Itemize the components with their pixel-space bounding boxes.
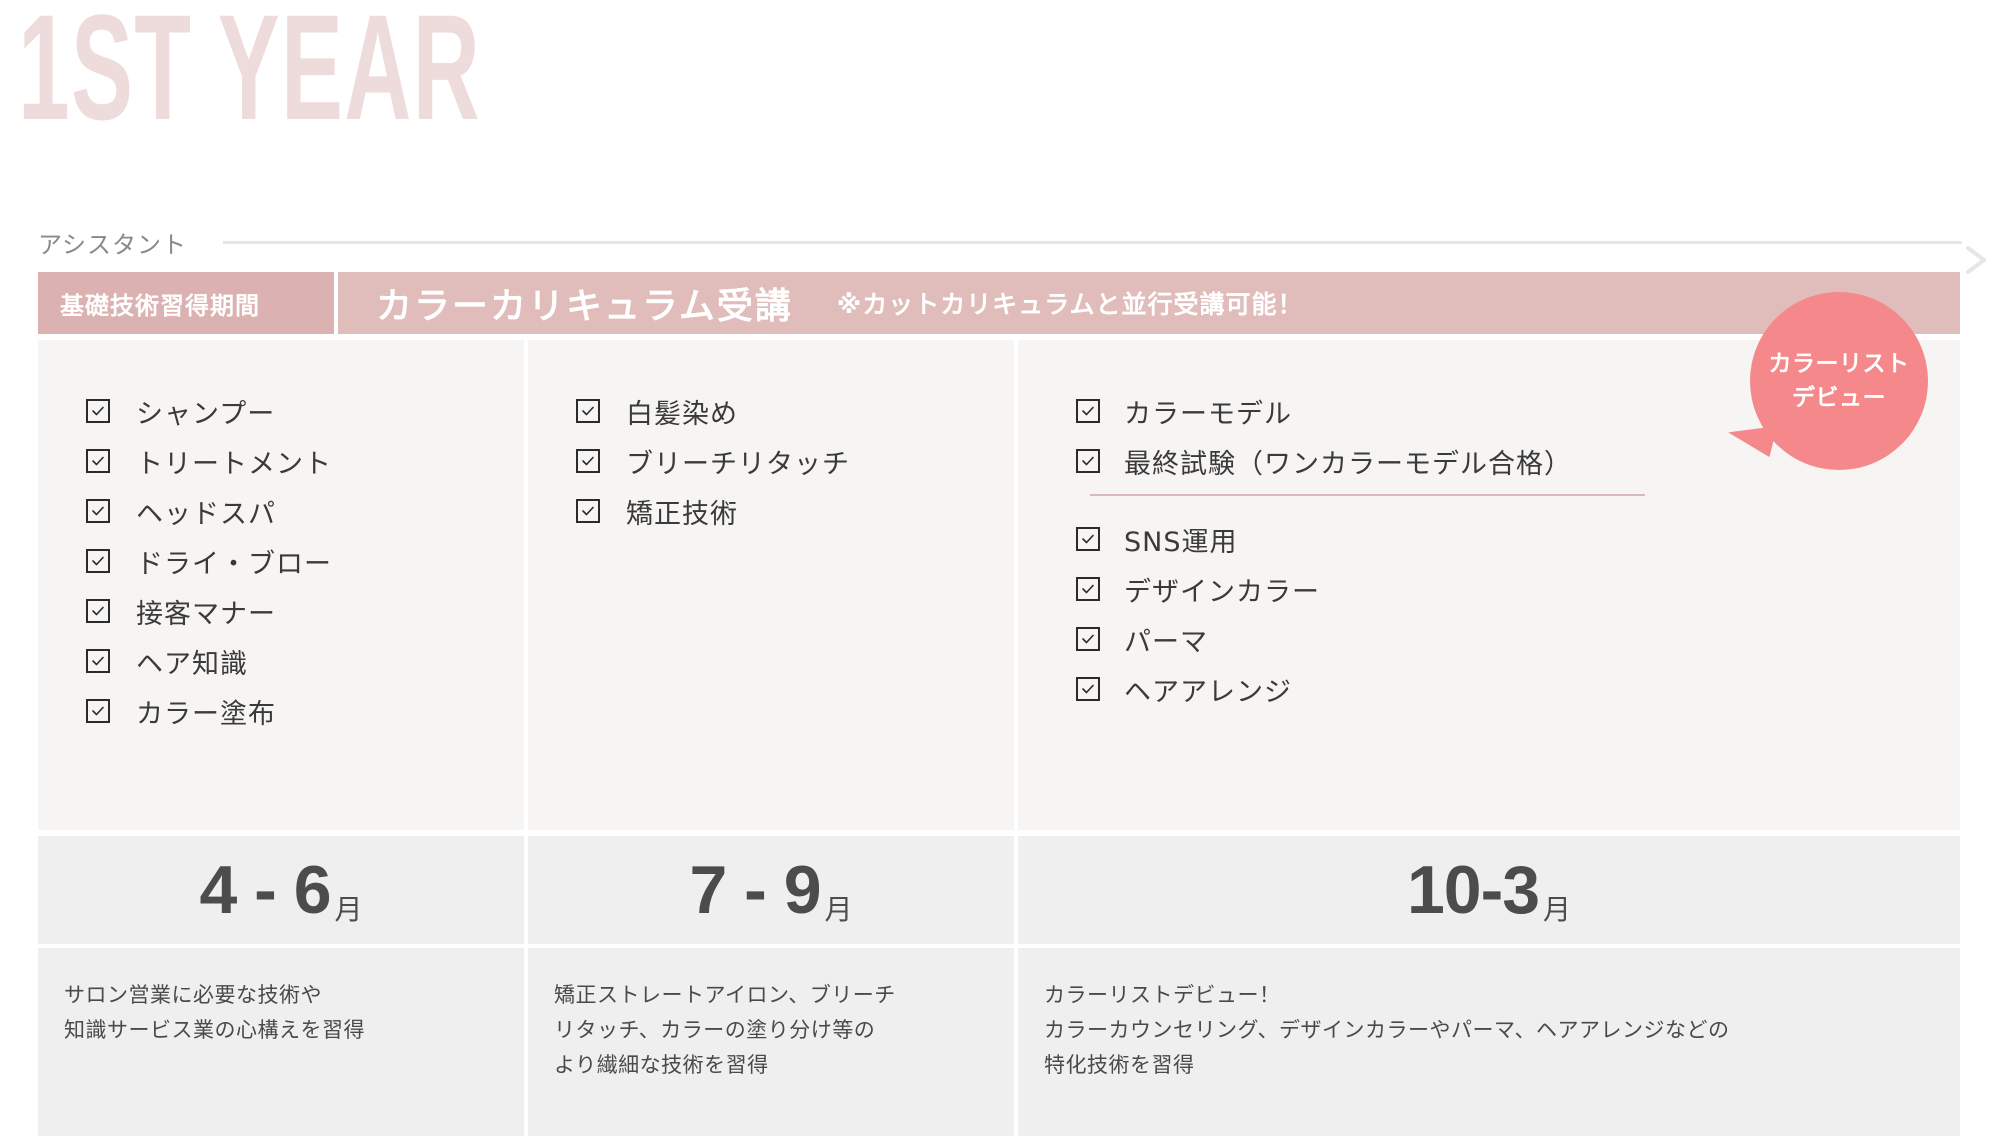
description-line: カラーリストデビュー！ bbox=[1044, 978, 1940, 1013]
checklist-row: シャンプー トリートメント ヘッドスパ ドライ・ブロー 接客マナー ヘア知識 bbox=[38, 340, 1960, 830]
month-number: 10-3 bbox=[1407, 856, 1539, 924]
band-color-curriculum-label: カラーカリキュラム受講 bbox=[376, 277, 793, 329]
checkbox-checked-icon[interactable] bbox=[1076, 449, 1100, 473]
description-line: より繊細な技術を習得 bbox=[554, 1048, 994, 1083]
check-item-label: ヘア知識 bbox=[136, 642, 248, 681]
description-line: 矯正ストレートアイロン、ブリーチ bbox=[554, 978, 994, 1013]
check-item-label: 最終試験（ワンカラーモデル合格） bbox=[1124, 442, 1572, 481]
check-item-label: ブリーチリタッチ bbox=[626, 442, 850, 481]
checkbox-checked-icon[interactable] bbox=[86, 549, 110, 573]
month-cell-2: 7 - 9 月 bbox=[528, 836, 1014, 944]
description-line: 知識サービス業の心構えを習得 bbox=[64, 1013, 504, 1048]
check-item-label: デザインカラー bbox=[1124, 570, 1320, 609]
stage-timeline-line bbox=[223, 241, 1962, 244]
description-line: リタッチ、カラーの塗り分け等の bbox=[554, 1013, 994, 1048]
check-item-label: ヘッドスパ bbox=[136, 492, 276, 531]
check-item[interactable]: ヘアアレンジ bbox=[1076, 668, 1960, 710]
checkbox-checked-icon[interactable] bbox=[86, 599, 110, 623]
curriculum-chart: 1ST YEAR アシスタント 基礎技術習得期間 カラーカリキュラム受講 ※カッ… bbox=[0, 0, 2000, 1136]
check-item-label: ドライ・ブロー bbox=[136, 542, 332, 581]
colorist-debut-badge: カラーリスト デビュー bbox=[1750, 292, 1928, 470]
month-number: 4 - 6 bbox=[199, 856, 330, 924]
check-item[interactable]: 白髪染め bbox=[576, 390, 1014, 432]
description-cell-2: 矯正ストレートアイロン、ブリーチ リタッチ、カラーの塗り分け等の より繊細な技術… bbox=[528, 948, 1014, 1136]
check-item[interactable]: カラー塗布 bbox=[86, 690, 524, 732]
description-cell-3: カラーリストデビュー！ カラーカウンセリング、デザインカラーやパーマ、ヘアアレン… bbox=[1018, 948, 1960, 1136]
checklist-column-3: カラーリスト デビュー カラーモデル 最終試験（ワンカラーモデル合格） SNS運… bbox=[1018, 340, 1960, 830]
check-item-label: SNS運用 bbox=[1124, 520, 1237, 559]
description-cell-1: サロン営業に必要な技術や 知識サービス業の心構えを習得 bbox=[38, 948, 524, 1136]
check-item[interactable]: SNS運用 bbox=[1076, 518, 1960, 560]
stage-row: アシスタント bbox=[38, 222, 1960, 262]
description-row: サロン営業に必要な技術や 知識サービス業の心構えを習得 矯正ストレートアイロン、… bbox=[38, 948, 1960, 1136]
checkbox-checked-icon[interactable] bbox=[86, 649, 110, 673]
month-unit: 月 bbox=[1543, 888, 1571, 944]
checkbox-checked-icon[interactable] bbox=[86, 399, 110, 423]
check-item[interactable]: ヘッドスパ bbox=[86, 490, 524, 532]
check-item-label: 白髪染め bbox=[626, 392, 738, 431]
checkbox-checked-icon[interactable] bbox=[1076, 677, 1100, 701]
checkbox-checked-icon[interactable] bbox=[1076, 577, 1100, 601]
checkbox-checked-icon[interactable] bbox=[1076, 627, 1100, 651]
check-item[interactable]: ブリーチリタッチ bbox=[576, 440, 1014, 482]
description-line: サロン営業に必要な技術や bbox=[64, 978, 504, 1013]
check-item[interactable]: デザインカラー bbox=[1076, 568, 1960, 610]
month-cell-1: 4 - 6 月 bbox=[38, 836, 524, 944]
month-cell-3: 10-3 月 bbox=[1018, 836, 1960, 944]
check-item[interactable]: ヘア知識 bbox=[86, 640, 524, 682]
check-item-label: カラーモデル bbox=[1124, 392, 1292, 431]
check-item-label: ヘアアレンジ bbox=[1124, 670, 1292, 709]
checkbox-checked-icon[interactable] bbox=[576, 499, 600, 523]
stage-label: アシスタント bbox=[38, 225, 187, 260]
check-item-label: パーマ bbox=[1124, 620, 1208, 659]
checklist-group-divider bbox=[1090, 494, 1645, 496]
checklist-column-1: シャンプー トリートメント ヘッドスパ ドライ・ブロー 接客マナー ヘア知識 bbox=[38, 340, 524, 830]
checkbox-checked-icon[interactable] bbox=[576, 399, 600, 423]
checkbox-checked-icon[interactable] bbox=[86, 499, 110, 523]
check-item-label: 矯正技術 bbox=[626, 492, 738, 531]
check-item[interactable]: パーマ bbox=[1076, 618, 1960, 660]
checkbox-checked-icon[interactable] bbox=[86, 449, 110, 473]
checkbox-checked-icon[interactable] bbox=[1076, 527, 1100, 551]
checklist-column-2: 白髪染め ブリーチリタッチ 矯正技術 bbox=[528, 340, 1014, 830]
check-item-label: 接客マナー bbox=[136, 592, 276, 631]
band-basic-period-label: 基礎技術習得期間 bbox=[60, 286, 260, 321]
month-unit: 月 bbox=[825, 888, 853, 944]
month-row: 4 - 6 月 7 - 9 月 10-3 月 bbox=[38, 836, 1960, 944]
page-title: 1ST YEAR bbox=[18, 0, 481, 142]
description-line: 特化技術を習得 bbox=[1044, 1048, 1940, 1083]
check-item[interactable]: シャンプー bbox=[86, 390, 524, 432]
check-item[interactable]: 接客マナー bbox=[86, 590, 524, 632]
checkbox-checked-icon[interactable] bbox=[1076, 399, 1100, 423]
checkbox-checked-icon[interactable] bbox=[576, 449, 600, 473]
month-number: 7 - 9 bbox=[689, 856, 820, 924]
check-item[interactable]: 矯正技術 bbox=[576, 490, 1014, 532]
check-item[interactable]: トリートメント bbox=[86, 440, 524, 482]
band-basic-period: 基礎技術習得期間 bbox=[38, 272, 334, 334]
check-item-label: トリートメント bbox=[136, 442, 332, 481]
badge-line-2: デビュー bbox=[1792, 381, 1886, 415]
checkbox-checked-icon[interactable] bbox=[86, 699, 110, 723]
band-color-curriculum: カラーカリキュラム受講 ※カットカリキュラムと並行受講可能！ bbox=[338, 272, 1960, 334]
description-line: カラーカウンセリング、デザインカラーやパーマ、ヘアアレンジなどの bbox=[1044, 1013, 1940, 1048]
check-item[interactable]: ドライ・ブロー bbox=[86, 540, 524, 582]
check-item-label: カラー塗布 bbox=[136, 692, 276, 731]
check-item-label: シャンプー bbox=[136, 392, 275, 431]
month-unit: 月 bbox=[335, 888, 363, 944]
badge-line-1: カラーリスト bbox=[1769, 347, 1910, 381]
header-band: 基礎技術習得期間 カラーカリキュラム受講 ※カットカリキュラムと並行受講可能！ bbox=[38, 272, 1960, 334]
band-color-curriculum-note: ※カットカリキュラムと並行受講可能！ bbox=[837, 285, 1304, 321]
